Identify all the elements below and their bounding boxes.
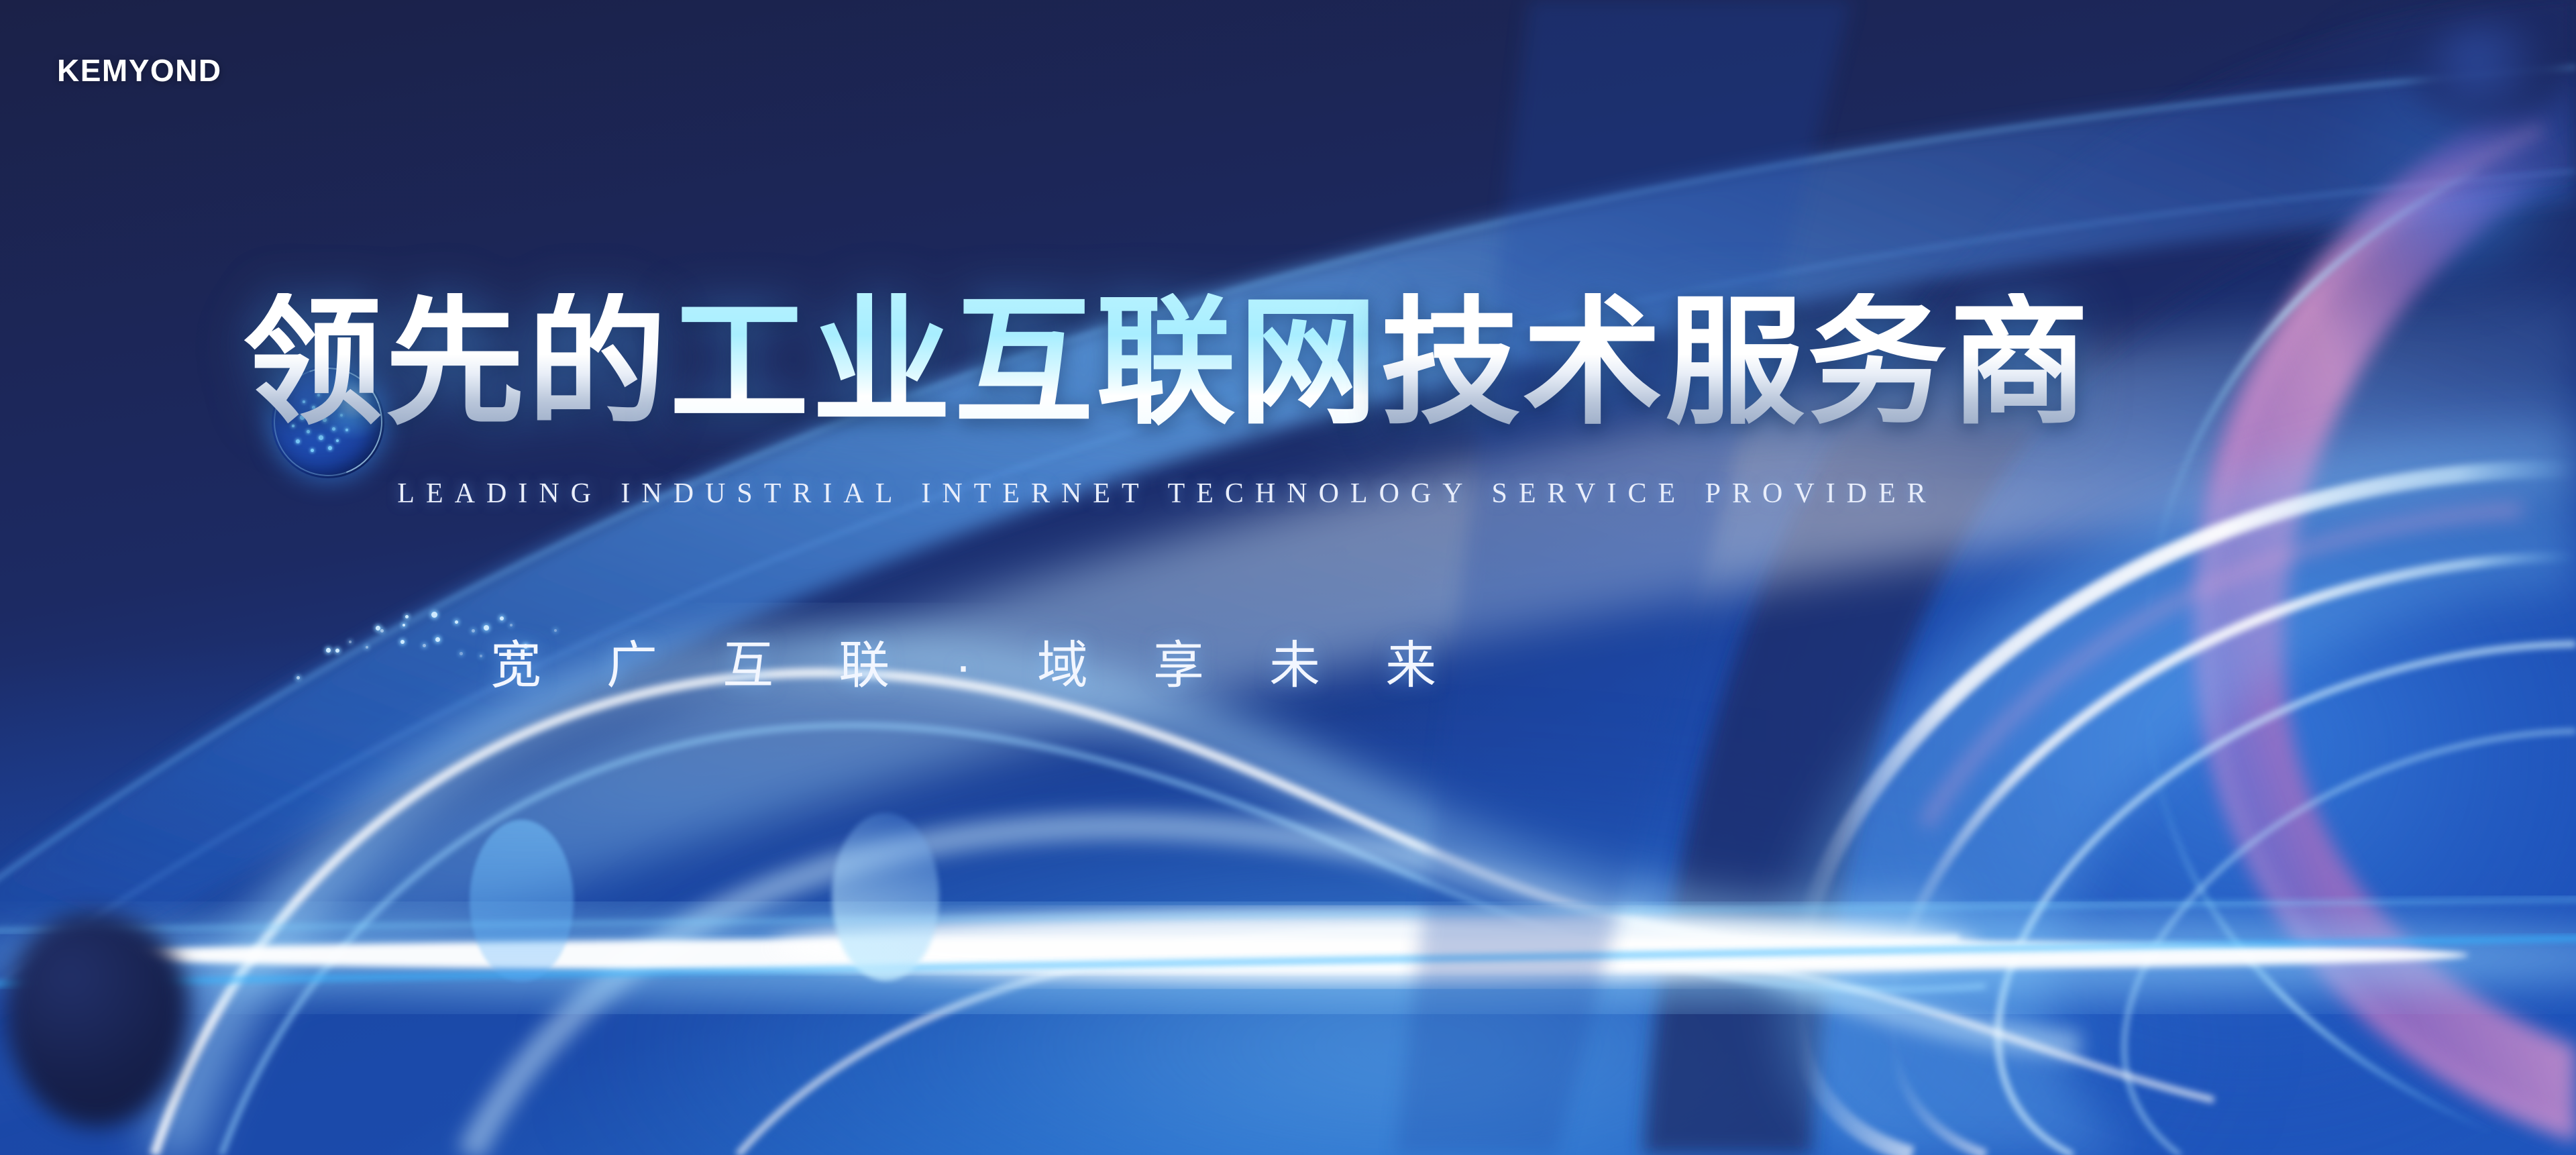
headline-segment-3: 技术服务商 (1381, 293, 2092, 433)
headline-segment-2: 工业互联网 (669, 293, 1381, 433)
content-layer: KEMYOND 领先的工业互联网技术服务商 LEADING INDUSTRIAL… (0, 0, 2576, 1155)
page-title: 领先的工业互联网技术服务商 (0, 293, 2576, 433)
brand-logo[interactable]: KEMYOND (57, 52, 222, 89)
hero-banner: KEMYOND 领先的工业互联网技术服务商 LEADING INDUSTRIAL… (0, 0, 2576, 1155)
headline-segment-1: 领先的 (243, 293, 669, 433)
page-tagline: 宽 广 互 联 · 域 享 未 来 (0, 624, 2576, 698)
page-subtitle: LEADING INDUSTRIAL INTERNET TECHNOLOGY S… (0, 478, 2576, 510)
